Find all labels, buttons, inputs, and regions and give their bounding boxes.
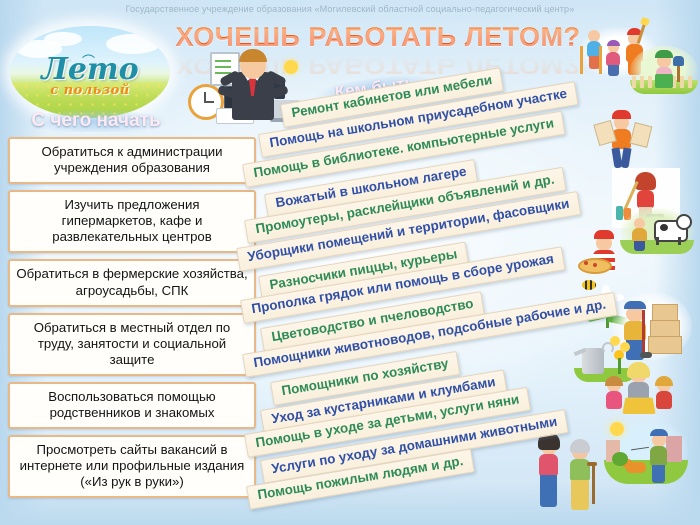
step-card: Обратиться в фермерские хозяйства, агроу… [8,259,256,306]
step-card: Просмотреть сайты вакансий в интернете и… [8,435,256,498]
leto-s-polzoy-logo: ︵ Лето с пользой [10,26,170,118]
lightbulb-icon [284,60,298,74]
step-card: Воспользоваться помощью родственников и … [8,382,256,429]
step-card: Обратиться к администрации учреждения об… [8,137,256,184]
logo-word-main: Лето [10,52,170,87]
left-section-heading: С чего начать [6,110,186,132]
cloud-icon [44,32,82,46]
right-jobs-list: Ремонт кабинетов или мебели Помощь на шк… [248,82,700,512]
step-card: Изучить предложения гипермаркетов, кафе … [8,190,256,253]
left-steps-list: Обратиться к администрации учреждения об… [8,137,256,504]
organization-line: Государственное учреждение образования «… [0,4,700,14]
logo-word-sub: с пользой [10,83,170,98]
step-card: Обратиться в местный отдел по труду, зан… [8,313,256,376]
poster-root: Государственное учреждение образования «… [0,0,700,525]
cloud-icon [106,34,160,54]
hair [239,49,267,62]
